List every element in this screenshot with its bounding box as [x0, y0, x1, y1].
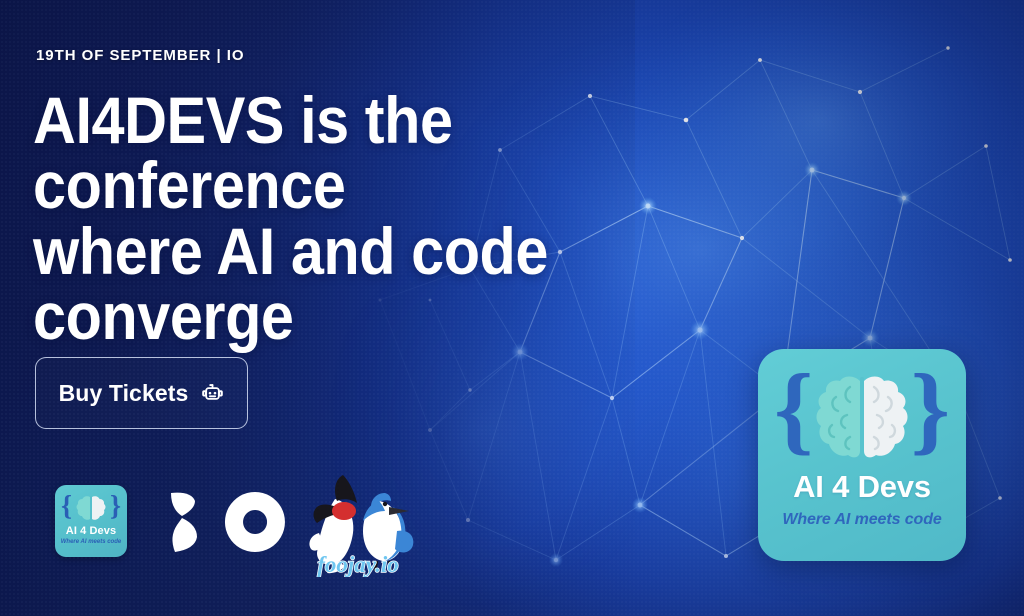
hero-banner: 19TH OF SEPTEMBER | IO AI4DEVS is the co… [0, 0, 1024, 616]
brand-logo-tagline: Where AI meets code [758, 511, 966, 529]
partner-logo-ai4devs[interactable]: { } AI 4 Devs Where AI meets code [55, 485, 127, 557]
headline-line-2: where AI and code [33, 219, 717, 284]
partner-logo-io[interactable] [165, 489, 295, 555]
partner-logo-tagline: Where AI meets code [55, 539, 127, 545]
brand-logo-card[interactable]: { } [758, 349, 966, 561]
page-title: AI4DEVS is the conference where AI and c… [33, 88, 717, 349]
brace-right-icon: } [110, 493, 121, 521]
svg-text:foojay.io: foojay.io [317, 552, 399, 577]
headline-line-3: converge [33, 284, 717, 349]
partner-logo-foojay[interactable]: foojay.io [293, 471, 423, 577]
partner-logo-title: AI 4 Devs [55, 525, 127, 537]
brain-icon [74, 495, 108, 522]
brain-icon [806, 373, 918, 463]
robot-icon [201, 382, 224, 405]
buy-tickets-button[interactable]: Buy Tickets [35, 357, 248, 429]
partner-logo-row: { } AI 4 Devs Where AI meets code [40, 465, 460, 575]
brand-logo-title: AI 4 Devs [758, 469, 966, 505]
event-date-label: 19TH OF SEPTEMBER | IO [36, 47, 244, 64]
buy-tickets-label: Buy Tickets [59, 380, 189, 407]
brace-left-icon: { [61, 493, 72, 521]
headline-line-1: AI4DEVS is the conference [33, 88, 717, 219]
